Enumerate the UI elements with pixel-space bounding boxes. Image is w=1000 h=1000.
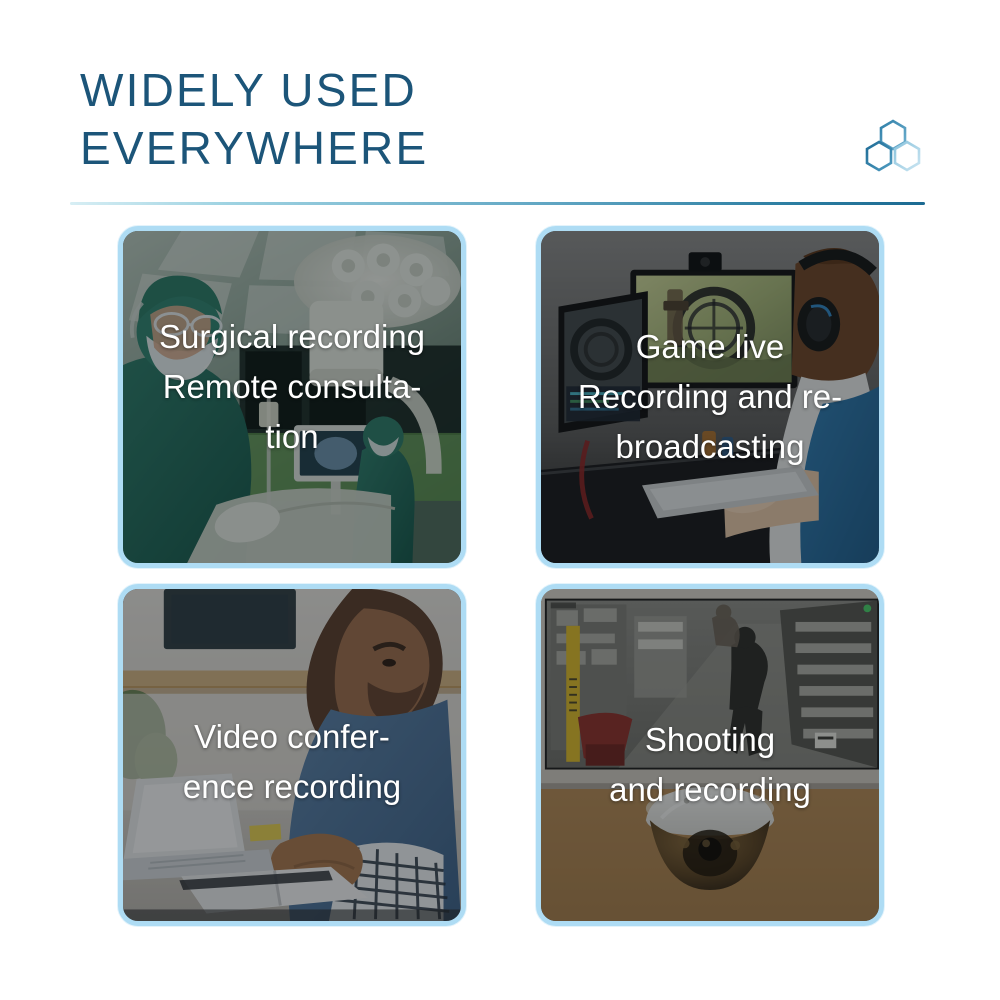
card-surgical-recording[interactable]: Surgical recording Remote consulta- tion [118,226,466,568]
card-label-game-live: Game live Recording and re- broadcasting [541,322,879,472]
card-shooting-and-recording[interactable]: Shooting and recording [536,584,884,926]
use-case-card-grid: Surgical recording Remote consulta- tion [118,226,884,926]
page-title: WIDELY USED EVERYWHERE [80,62,700,177]
hexagon-cluster-icon [862,118,924,174]
card-label-video-conference: Video confer- ence recording [123,712,461,812]
title-block: WIDELY USED EVERYWHERE [80,62,700,177]
card-label-surgical-recording: Surgical recording Remote consulta- tion [123,312,461,462]
card-label-shooting-and-recording: Shooting and recording [541,715,879,815]
poster-page: WIDELY USED EVERYWHERE [0,0,1000,1000]
card-video-conference[interactable]: Video confer- ence recording [118,584,466,926]
header-divider [70,202,925,205]
page-header: WIDELY USED EVERYWHERE [70,62,930,210]
card-game-live[interactable]: Game live Recording and re- broadcasting [536,226,884,568]
